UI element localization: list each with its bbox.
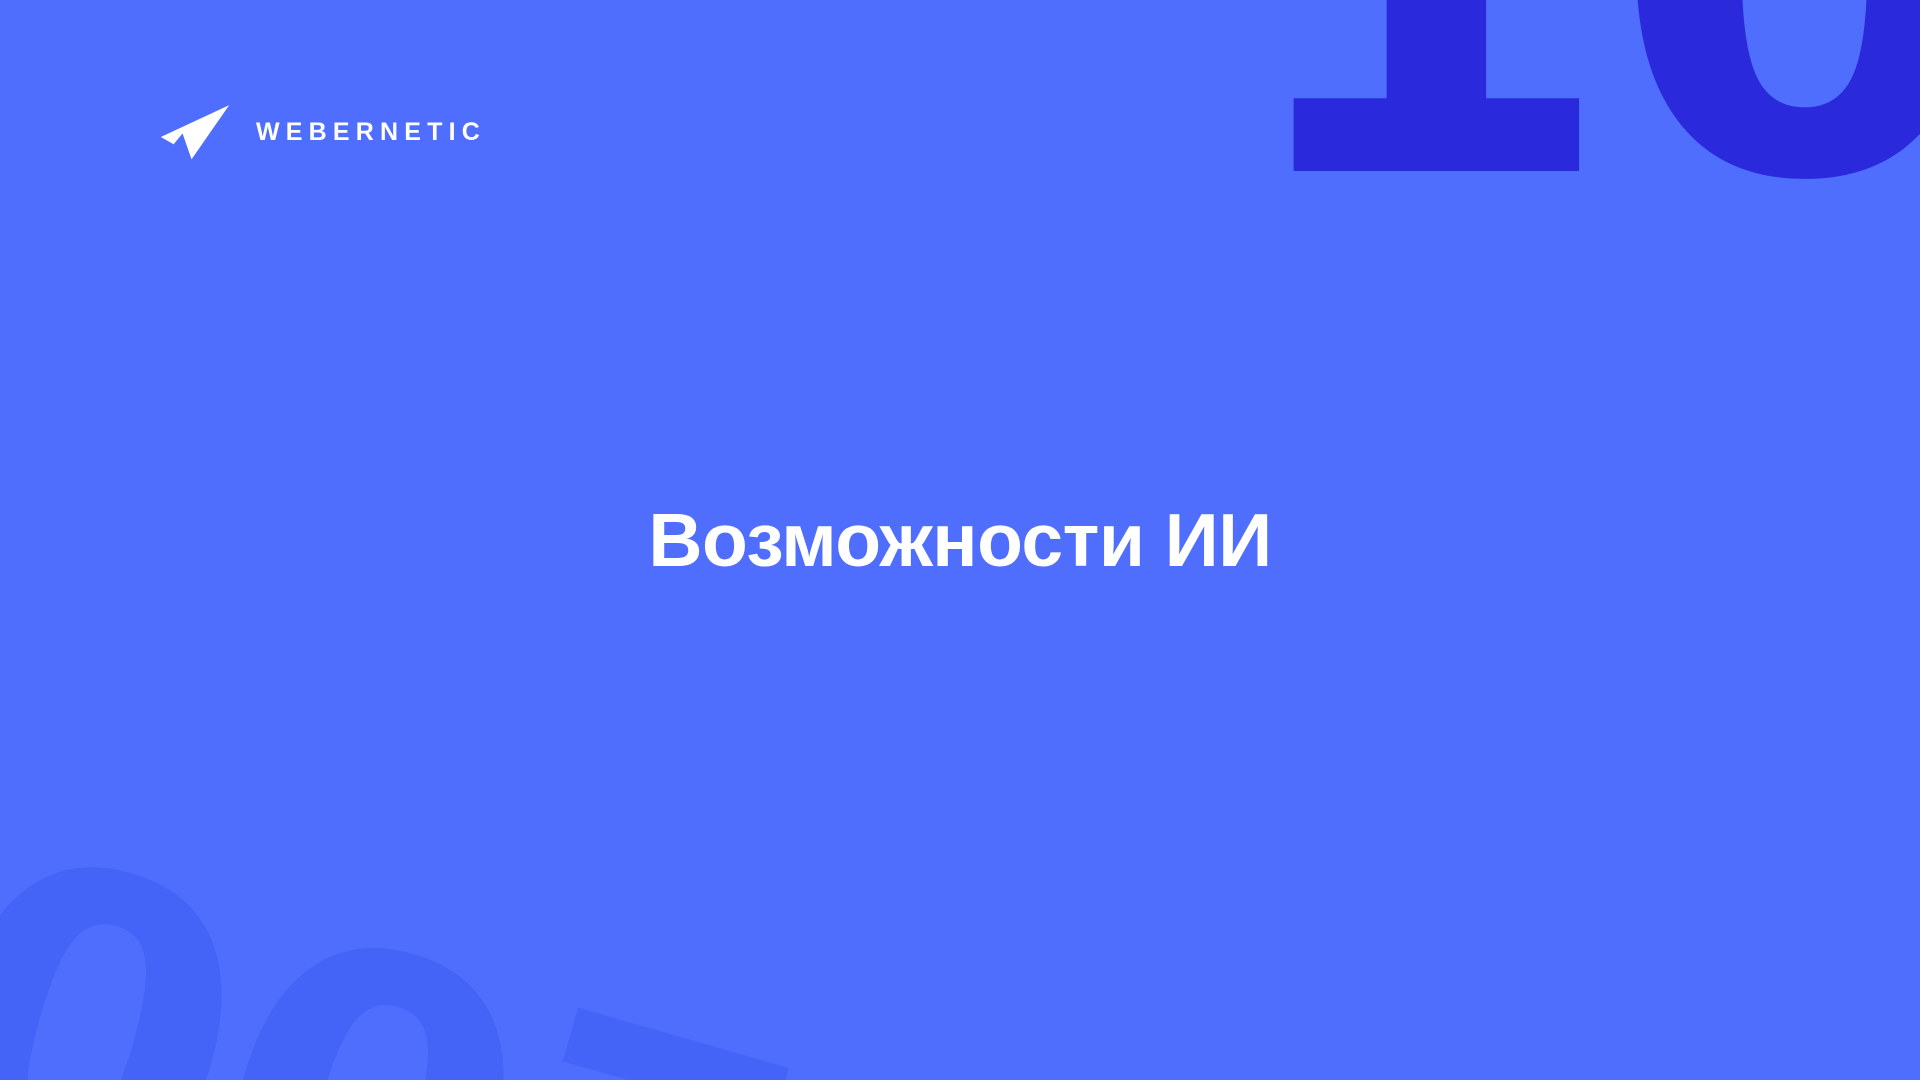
presentation-slide: 100 100 WEBERNETIC Возможности ИИ [0,0,1920,1080]
slide-content: Возможности ИИ [0,0,1920,1080]
page-title: Возможности ИИ [528,497,1391,583]
